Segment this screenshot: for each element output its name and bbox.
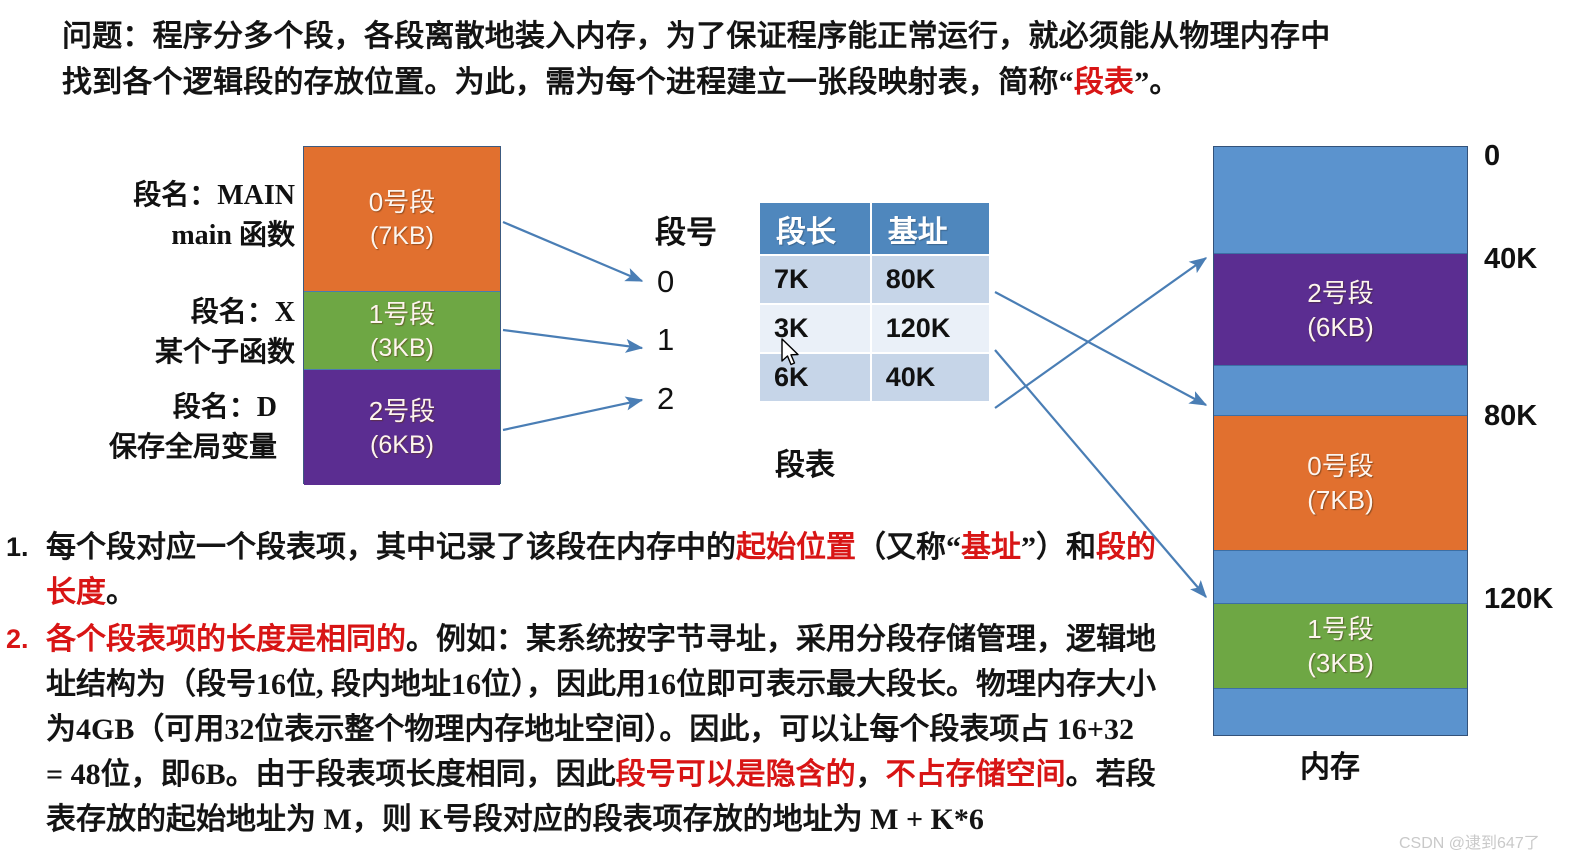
arrow-seg1-to-num1: [503, 330, 642, 348]
segment-number-title: 段号: [655, 207, 717, 252]
note-text-run: 每个段对应一个段表项，其中记录了该段在内存中的: [46, 531, 736, 564]
memory-address-80k: 80K: [1484, 400, 1537, 433]
arrow-seg2-to-num2: [503, 400, 642, 430]
note-1-number: 1.: [6, 525, 46, 615]
segment-table-cell-length-2: 6K: [760, 353, 871, 402]
arrow-row2-to-memory-seg2: [995, 258, 1206, 408]
memory-block-segment-2: 2号段 (6KB): [1214, 253, 1467, 366]
mouse-cursor-icon: [780, 338, 802, 368]
intro-line-1: 问题：程序分多个段，各段离散地装入内存，为了保证程序能正常运行，就必须能从物理内…: [62, 14, 1532, 60]
note-text-run: ，: [856, 758, 886, 791]
segment-number-1: 1: [657, 322, 674, 358]
intro-line-2: 找到各个逻辑段的存放位置。为此，需为每个进程建立一张段映射表，简称“段表”。: [62, 60, 1532, 106]
segment-table-cell-length-0: 7K: [760, 255, 871, 304]
intro-line-2-text-b: ”。: [1134, 66, 1179, 99]
program-segment-2: 2号段 (6KB): [304, 369, 500, 485]
note-item-1: 1. 每个段对应一个段表项，其中记录了该段在内存中的起始位置（又称“基址”）和段…: [6, 525, 1156, 615]
segment-table: 段长 基址 7K 80K 3K 120K 6K 40K: [760, 203, 989, 403]
segment-label-main: 段名：MAIN main 函数: [60, 176, 295, 256]
note-text-run: ”）和: [1021, 531, 1096, 564]
memory-block-segment-1-size: (3KB): [1307, 646, 1373, 680]
note-text-run: 起始位置: [736, 531, 856, 564]
note-text-run: 各个段表项的长度是相同的: [46, 623, 406, 656]
arrow-row0-to-memory-seg0: [995, 292, 1206, 405]
program-segment-2-name: 2号段: [369, 394, 435, 428]
segment-table-cell-length-1: 3K: [760, 304, 871, 353]
note-item-2: 2. 各个段表项的长度是相同的。例如：某系统按字节寻址，采用分段存储管理，逻辑地…: [6, 617, 1156, 842]
memory-address-0: 0: [1484, 140, 1500, 173]
program-segment-0-name: 0号段: [369, 185, 435, 219]
segment-table-cell-base-2: 40K: [871, 353, 989, 402]
program-segment-1-size: (3KB): [370, 331, 434, 365]
program-segment-1: 1号段 (3KB): [304, 291, 500, 369]
memory-block-segment-1: 1号段 (3KB): [1214, 603, 1467, 689]
segment-table-header-length: 段长: [760, 203, 871, 255]
memory-diagram-caption: 内存: [1300, 742, 1360, 786]
intro-highlight-duanbiao: 段表: [1074, 66, 1134, 99]
note-text-run: （又称“: [856, 531, 961, 564]
table-row[interactable]: 7K 80K: [760, 255, 989, 304]
memory-block-segment-0: 0号段 (7KB): [1214, 415, 1467, 551]
intro-line-2-text-a: 找到各个逻辑段的存放位置。为此，需为每个进程建立一张段映射表，简称“: [62, 66, 1074, 99]
segment-label-main-line2: main 函数: [60, 216, 295, 256]
memory-block-segment-1-name: 1号段: [1307, 612, 1373, 646]
segment-label-d-line1: 段名：D: [173, 392, 277, 423]
memory-address-120k: 120K: [1484, 583, 1553, 616]
segment-label-x: 段名：X 某个子函数: [60, 293, 295, 373]
note-1-body: 每个段对应一个段表项，其中记录了该段在内存中的起始位置（又称“基址”）和段的长度…: [46, 525, 1156, 615]
program-segment-2-size: (6KB): [370, 428, 434, 462]
memory-block-segment-2-name: 2号段: [1307, 276, 1373, 310]
segment-table-cell-base-1: 120K: [871, 304, 989, 353]
segment-label-main-line1: 段名：MAIN: [133, 180, 295, 211]
intro-line-1-text: 问题：程序分多个段，各段离散地装入内存，为了保证程序能正常运行，就必须能从物理内…: [62, 20, 1330, 53]
program-segment-0: 0号段 (7KB): [304, 147, 500, 291]
program-segment-0-size: (7KB): [370, 219, 434, 253]
segment-label-x-line1: 段名：X: [191, 297, 295, 328]
segment-table-cell-base-0: 80K: [871, 255, 989, 304]
csdn-watermark: CSDN @逮到647了: [1399, 829, 1540, 853]
note-text-run: 不占存储空间: [886, 758, 1066, 791]
note-text-run: 段号可以是隐含的: [616, 758, 856, 791]
memory-diagram: 2号段 (6KB) 0号段 (7KB) 1号段 (3KB): [1213, 146, 1468, 736]
segment-label-d: 段名：D 保存全局变量: [42, 388, 277, 468]
memory-address-40k: 40K: [1484, 243, 1537, 276]
memory-block-segment-2-size: (6KB): [1307, 310, 1373, 344]
note-2-body: 各个段表项的长度是相同的。例如：某系统按字节寻址，采用分段存储管理，逻辑地址结构…: [46, 617, 1156, 842]
arrow-seg0-to-num0: [503, 222, 642, 281]
note-text-run: 基址: [961, 531, 1021, 564]
note-2-number: 2.: [6, 617, 46, 842]
segment-number-2: 2: [657, 381, 674, 417]
segment-label-x-line2: 某个子函数: [60, 333, 295, 373]
program-segment-1-name: 1号段: [369, 297, 435, 331]
intro-paragraph: 问题：程序分多个段，各段离散地装入内存，为了保证程序能正常运行，就必须能从物理内…: [62, 14, 1532, 106]
memory-block-segment-0-size: (7KB): [1307, 483, 1373, 517]
memory-block-segment-0-name: 0号段: [1307, 449, 1373, 483]
segment-label-d-line2: 保存全局变量: [42, 428, 277, 468]
segment-table-header-base: 基址: [871, 203, 989, 255]
notes-list: 1. 每个段对应一个段表项，其中记录了该段在内存中的起始位置（又称“基址”）和段…: [6, 525, 1156, 844]
program-segments-diagram: 0号段 (7KB) 1号段 (3KB) 2号段 (6KB): [303, 146, 501, 484]
segment-table-caption: 段表: [775, 440, 835, 484]
segment-number-0: 0: [657, 264, 674, 300]
segment-table-header-row: 段长 基址: [760, 203, 989, 255]
note-text-run: 。: [106, 576, 136, 609]
